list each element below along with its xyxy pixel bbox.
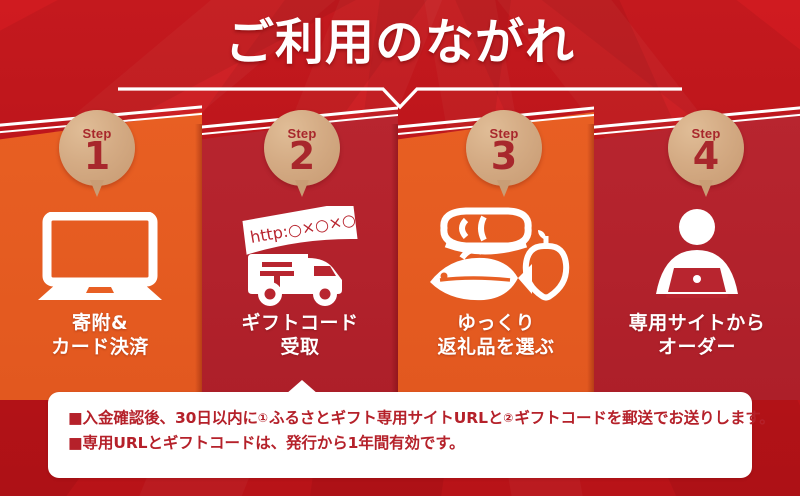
step-badge-1[interactable]: Step 1 — [59, 110, 135, 186]
notice-line-1: ■入金確認後、30日以内に①ふるさとギフト専用サイトURLと②ギフトコードを郵送… — [68, 406, 738, 431]
step-icon-1 — [0, 204, 200, 312]
notice-line-2-text: 専用URLとギフトコードは、発行から1年間有効です。 — [83, 434, 465, 452]
badge-step-number: 4 — [668, 137, 744, 175]
step-badge-3[interactable]: Step 3 — [466, 110, 542, 186]
step-content-4: 専用サイトから オーダー — [594, 204, 800, 360]
notice-bullet: ■ — [68, 409, 83, 427]
badge-tail — [295, 180, 309, 197]
notice-line-2: ■専用URLとギフトコードは、発行から1年間有効です。 — [68, 431, 738, 456]
notice-line-1-part-b: ふるさとギフト専用サイトURLと — [269, 409, 503, 427]
notice-bullet: ■ — [68, 434, 83, 452]
food-gifts-icon — [422, 206, 570, 310]
meat-icon — [444, 211, 528, 251]
step-caption-4: 専用サイトから オーダー — [594, 312, 800, 360]
title-divider-icon — [118, 86, 682, 110]
boxed-number-2: ② — [503, 411, 513, 425]
notice-line-1-part-a: 入金確認後、30日以内に — [83, 409, 258, 427]
step-content-2: http:○×○×○ ギフトコード 受取 — [202, 204, 398, 360]
caption-line: 寄附& — [0, 312, 200, 336]
badge-step-number: 1 — [59, 137, 135, 175]
caption-line: 専用サイトから — [594, 312, 800, 336]
step-caption-3: ゆっくり 返礼品を選ぶ — [398, 312, 594, 360]
step-badge-4[interactable]: Step 4 — [668, 110, 744, 186]
fish-icon — [430, 250, 532, 300]
badge-step-number: 3 — [466, 137, 542, 175]
step-icon-4 — [594, 204, 800, 312]
step-content-1: 寄附& カード決済 — [0, 204, 200, 360]
postal-truck-icon: http:○×○×○ — [230, 206, 370, 310]
step-caption-1: 寄附& カード決済 — [0, 312, 200, 360]
badge-step-number: 2 — [264, 137, 340, 175]
notice-pointer-icon — [286, 380, 318, 394]
page-title: ご利用のながれ — [225, 18, 575, 67]
step-icon-2: http:○×○×○ — [202, 204, 398, 312]
notice-content: ■入金確認後、30日以内に①ふるさとギフト専用サイトURLと②ギフトコードを郵送… — [68, 406, 738, 456]
boxed-number-1: ① — [258, 411, 268, 425]
infographic-root: ご利用のながれ — [0, 0, 800, 496]
caption-line: 返礼品を選ぶ — [398, 336, 594, 360]
badge-tail — [90, 180, 104, 197]
caption-line: 受取 — [202, 336, 398, 360]
caption-line: ゆっくり — [398, 312, 594, 336]
person-with-laptop-icon — [642, 208, 752, 308]
caption-line: ギフトコード — [202, 312, 398, 336]
badge-tail — [699, 180, 713, 197]
notice-box: ■入金確認後、30日以内に①ふるさとギフト専用サイトURLと②ギフトコードを郵送… — [48, 392, 752, 478]
caption-line: カード決済 — [0, 336, 200, 360]
step-icon-3 — [398, 204, 594, 312]
step-badge-2[interactable]: Step 2 — [264, 110, 340, 186]
page-title-wrap: ご利用のながれ — [0, 18, 800, 67]
caption-line: オーダー — [594, 336, 800, 360]
laptop-icon — [34, 212, 166, 304]
step-content-3: ゆっくり 返礼品を選ぶ — [398, 204, 594, 360]
step-caption-2: ギフトコード 受取 — [202, 312, 398, 360]
notice-line-1-part-c: ギフトコードを郵送でお送りします。 — [514, 409, 774, 427]
badge-tail — [497, 180, 511, 197]
